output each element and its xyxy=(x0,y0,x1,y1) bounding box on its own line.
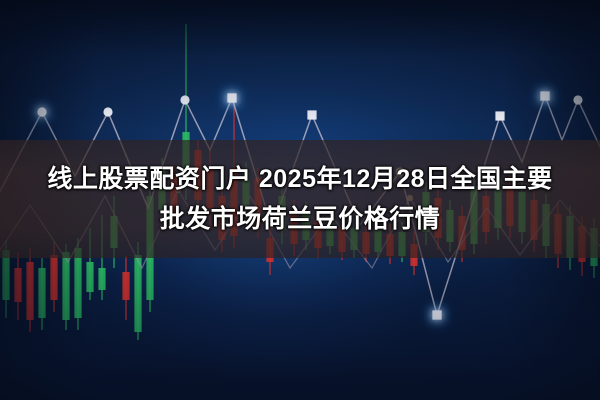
title-line-primary: 线上股票配资门户 2025年12月28日全国主要 xyxy=(47,159,552,199)
banner-title: 线上股票配资门户 2025年12月28日全国主要 批发市场荷兰豆价格行情 xyxy=(0,140,600,258)
stock-banner-image: 线上股票配资门户 2025年12月28日全国主要 批发市场荷兰豆价格行情 xyxy=(0,0,600,400)
title-line-secondary: 批发市场荷兰豆价格行情 xyxy=(160,199,441,239)
